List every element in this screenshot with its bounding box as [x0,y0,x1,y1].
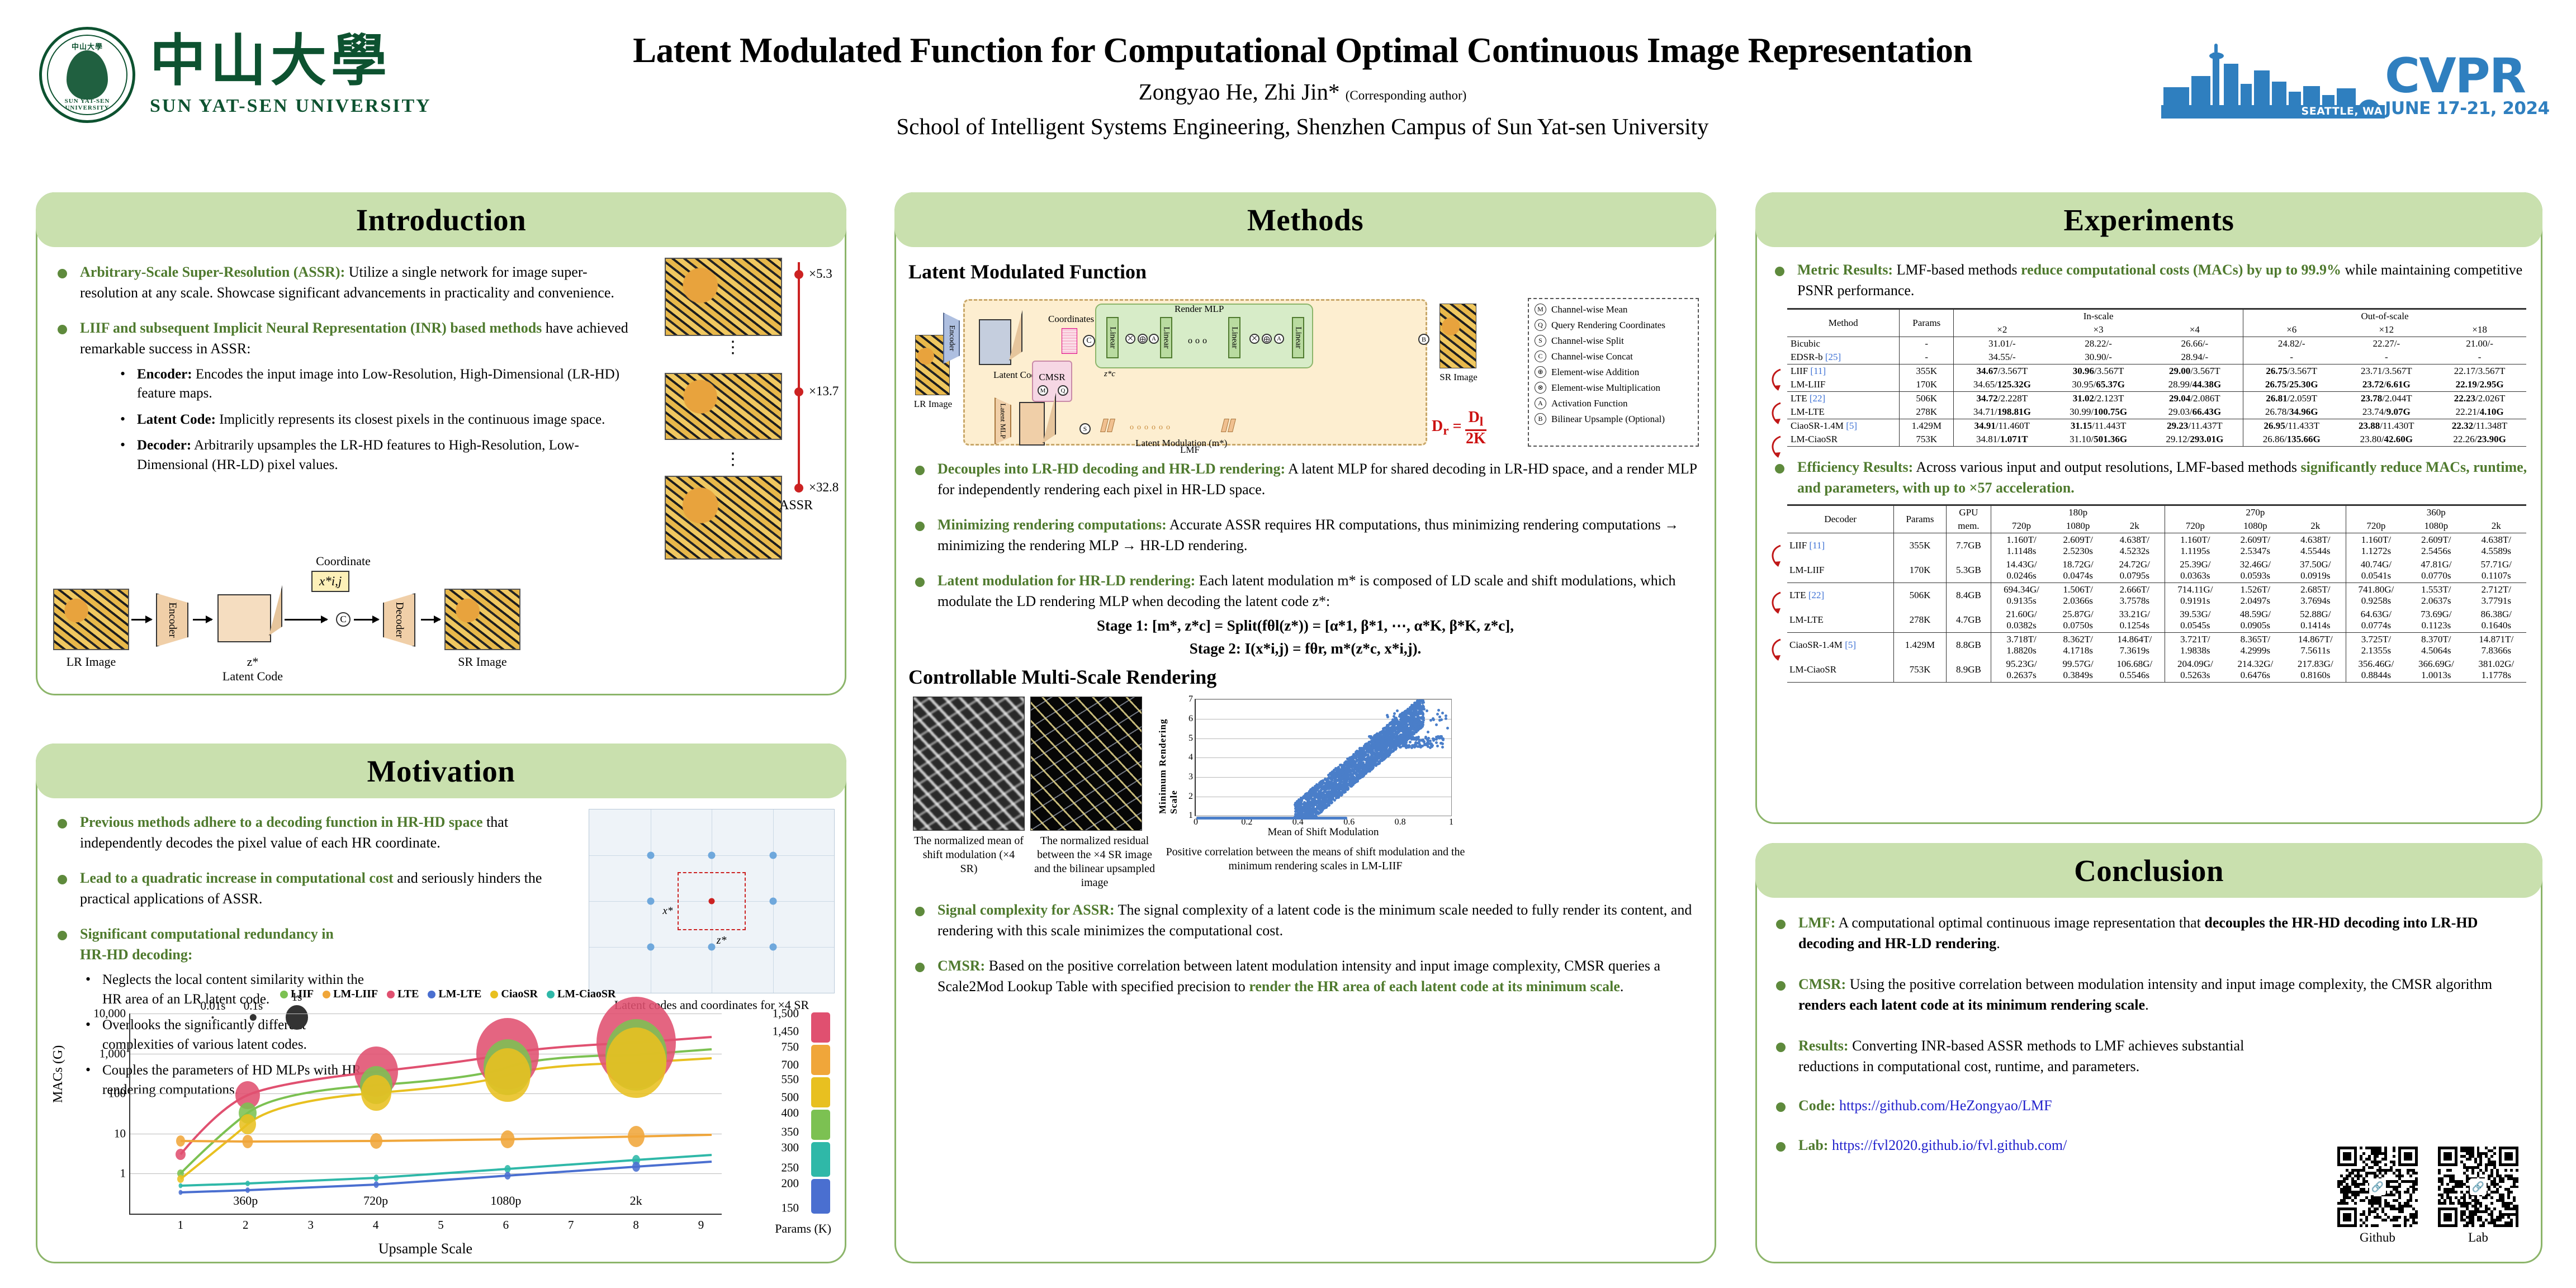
scatter-y-tick: 5 [1188,733,1196,744]
methods-section-1-title: Latent Modulated Function [908,260,1702,283]
motiv-bullet-2-lead: Lead to a quadratic increase in computat… [80,870,394,886]
colorbar-label: 1,500 [773,1007,799,1021]
arch-sr-label: SR Image [1436,372,1481,383]
hr-area-box [678,872,746,931]
scale-marker-3 [794,484,803,493]
pipeline-sr-image [444,589,520,650]
legend-label: CiaoSR [501,988,538,1001]
metric-results-table: MethodParamsIn-scaleOut-of-scale×2×3×4×6… [1787,308,2526,448]
sub-lead: Latent Code: [137,412,216,427]
legend-row: MChannel-wise Mean [1535,304,1692,315]
bubble-point [176,1149,186,1160]
legend-row: AActivation Function [1535,397,1692,409]
chart-y-axis-label: MACs (G) [51,1045,66,1103]
colorbar-label: 700 [782,1058,799,1072]
pipeline-sr-label: SR Image [444,655,520,669]
bubble-point [632,1162,640,1172]
intro-bullet-2: LIIF and subsequent Implicit Neural Repr… [51,318,643,475]
scatter-x-tick: 0.8 [1395,816,1406,827]
cmsr-figures: The normalized mean of shift modulation … [913,697,1702,890]
arch-latent-modulation-label: Latent Modulation (m*) [1135,438,1227,449]
introduction-bullets: Arbitrary-Scale Super-Resolution (ASSR):… [51,262,643,475]
scale-marker-2 [794,387,803,396]
arch-linear-label: Linear [1294,326,1303,348]
grid-x-label: x* [662,905,673,917]
lab-link[interactable]: https://fvl2020.github.io/fvl.github.com… [1832,1137,2067,1153]
bubble-point [374,1181,379,1188]
legend-row: QQuery Rendering Coordinates [1535,319,1692,331]
colorbar-label: 550 [782,1073,799,1087]
scatter-plot-area: 7 6 5 4 3 2 1 0 0.2 0.4 0.6 0.8 1 [1195,699,1452,816]
colorbar-label: 400 [782,1106,799,1120]
concl-bullet-2-bold: renders each latent code at its minimum … [1798,997,2145,1013]
y-tick-label: 100 [108,1087,131,1101]
colorbar-label: 750 [782,1040,799,1054]
scatter-y-tick: 2 [1188,792,1196,802]
intro-bullet-1: Arbitrary-Scale Super-Resolution (ASSR):… [51,262,643,304]
assr-scale-figure: ⋮ ⋮ ×5.3 ×13.7 ×32.8 ASSR [665,258,832,560]
x-tick-label: 9 [698,1214,704,1232]
pipeline-encoder-icon: Encoder [156,593,188,647]
methods-bullet-5: CMSR: Based on the positive correlation … [908,956,1702,997]
sub-lead: Encoder: [137,367,192,382]
bubble-point [501,1130,515,1148]
split-icon: S [1535,335,1546,347]
x-tick-label: 4 [373,1214,379,1232]
scatter-caption: Positive correlation between the means o… [1164,845,1466,873]
legend-text: Channel-wise Mean [1551,304,1627,315]
colorbar-label: 1,450 [773,1025,799,1039]
colorbar-label: 350 [782,1125,799,1139]
legend-text: Bilinear Upsample (Optional) [1551,414,1665,425]
query-icon: Q [1058,385,1068,396]
university-seal-icon: 中山大學 SUN YAT-SEN UNIVERSITY [39,27,135,123]
x-tick-label: 5 [438,1214,444,1232]
colorbar-label: 500 [782,1091,799,1105]
motiv-bullet-2: Lead to a quadratic increase in computat… [51,868,554,910]
colorbar-label: 200 [782,1177,799,1191]
grid-z-label: z* [717,934,727,947]
concl-bullet-1-mid: A computational optimal continuous image… [1835,915,2204,931]
pipeline-arrow-1 [131,619,151,621]
legend-label: LM-LTE [438,988,481,1001]
bubble-point [243,1135,253,1148]
chart-legend: LIIF LM-LIIF LTE LM-LTE CiaoSR LM-CiaoSR [280,988,615,1001]
pipeline-coordinate-label: Coordinate [290,554,396,569]
scatter-y-tick: 6 [1188,714,1196,724]
list-item: Decoder: Arbitrarily upsamples the LR-HD… [115,436,643,475]
arch-cmsr-label: CMSR [1039,372,1065,383]
methods-bullet-5-green: render the HR area of each latent code a… [1249,978,1620,995]
panel-conclusion: Conclusion LMF: A computational optimal … [1755,843,2542,1263]
qr-codes: 🔗 Github 🔗 Lab [2337,1147,2518,1245]
panel-introduction: Introduction Arbitrary-Scale Super-Resol… [36,192,846,695]
arch-bilinear-icon: B [1418,334,1429,345]
legend-item: LTE [387,988,419,1001]
corresponding-author-note: (Corresponding author) [1346,88,1467,102]
x-tick-label: 3 [307,1214,314,1232]
size-key-label: 0.1s [244,999,263,1013]
scatter-x-tick: 1 [1449,816,1453,827]
pipeline-arrow-5 [421,619,440,621]
methods-bullet-3-lead: Latent modulation for HR-LD rendering: [937,572,1195,589]
methods-bullet-1-lead: Decouples into LR-HD decoding and HR-LD … [937,461,1285,477]
legend-row: CChannel-wise Concat [1535,351,1692,362]
arch-multiply-icon-1: ⨉ [1125,334,1135,344]
seattle-skyline-icon: SEATTLE, WA [2161,40,2385,119]
legend-row: ⊕Element-wise Addition [1535,366,1692,378]
arch-linear-label: Linear [1108,326,1117,348]
bilinear-icon: B [1535,413,1546,425]
exp-bullet-1: Metric Results: LMF-based methods reduce… [1768,260,2530,301]
lmf-architecture-diagram: LR Image Encoder LMF Latent Code (z*) Co… [912,291,1700,453]
scatter-y-tick: 3 [1188,772,1196,782]
dr-denominator: 2K [1466,431,1486,447]
sr-crop-image-1 [665,258,782,336]
size-key-label: 1s [286,990,308,1004]
y-tick-label: 10,000 [93,1007,130,1021]
arch-linear-label: Linear [1230,326,1239,348]
methods-title: Methods [1247,202,1363,238]
query-icon: Q [1535,319,1546,331]
pipeline-coordinate-box: x*i,j [311,571,349,592]
pipeline-lr-image [53,589,129,650]
legend-item: CiaoSR [490,988,538,1001]
methods-bullet-4: Signal complexity for ASSR: The signal c… [908,900,1702,941]
page-title: Latent Modulated Function for Computatio… [492,31,2113,70]
cvpr-logo: SEATTLE, WA CVPR JUNE 17-21, 2024 [2161,35,2553,119]
title-block: Latent Modulated Function for Computatio… [492,31,2113,140]
arch-sr-image [1439,304,1476,368]
x-tick-label: 6 [503,1214,509,1232]
motiv-bullet-1: Previous methods adhere to a decoding fu… [51,812,554,854]
sub-rest: Arbitrarily upsamples the LR-HD features… [137,438,579,472]
scale-label-1: ×5.3 [809,267,832,281]
shift-modulation-image [913,697,1025,831]
introduction-title: Introduction [356,202,527,238]
intro-bullet-1-lead: Arbitrary-Scale Super-Resolution (ASSR): [80,264,345,280]
scale-label-2: ×13.7 [809,384,839,399]
panel-motivation: Motivation Previous methods adhere to a … [36,744,846,1263]
methods-bullet-4-lead: Signal complexity for ASSR: [937,902,1115,918]
experiments-title: Experiments [2064,202,2234,238]
legend-text: Channel-wise Concat [1551,351,1633,362]
conversion-arrow-4 [1768,543,1787,569]
bubble-point [485,1048,531,1102]
lab-label: Lab: [1798,1137,1828,1153]
motiv-bullet-1-lead: Previous methods adhere to a decoding fu… [80,814,483,830]
authors: Zongyao He, Zhi Jin* (Corresponding auth… [492,78,2113,105]
x-tick-label: 1 [178,1214,184,1232]
intro-pipeline-diagram: LR Image Encoder z* Latent Code Coordina… [50,557,609,686]
legend-row: ⊗Element-wise Multiplication [1535,382,1692,394]
conclusion-header: Conclusion [1755,843,2542,898]
pipeline-lr-label: LR Image [53,655,129,669]
legend-row: BBilinear Upsample (Optional) [1535,413,1692,425]
arch-activation-icon-2: A [1274,334,1284,344]
arch-modulation-bars-2 [1223,419,1234,432]
colorbar-label: 300 [782,1141,799,1155]
equation-stage-2: Stage 2: I(x*i,j) = fθr, m*(z*c, x*i,j). [908,640,1702,657]
scale-label-3: ×32.8 [809,480,839,495]
x-tick-label: 8 [633,1214,639,1232]
methods-header: Methods [894,192,1716,247]
legend-text: Element-wise Addition [1551,367,1639,378]
latent-grid-figure: z* x* [589,809,835,993]
pipeline-latent-label: z* [211,655,295,669]
y-tick-label: 1 [120,1167,131,1181]
legend-label: LM-CiaoSR [557,988,615,1001]
arch-legend: MChannel-wise Mean QQuery Rendering Coor… [1528,298,1699,447]
methods-bullet-5-lead: CMSR: [937,958,985,974]
experiments-bullets-2: Efficiency Results: Across various input… [1768,457,2530,499]
scale-axis-line [798,262,800,489]
arch-latent-cube [979,319,1011,365]
arch-latent-mlp-label: Latent MLP [998,403,1007,438]
bubble-point [606,1027,666,1098]
sub-lead: Decoder: [137,438,191,453]
residual-image [1030,697,1142,831]
arch-latent-out-cube [1019,402,1045,446]
arch-zc-label: z*c [1104,370,1115,379]
sub-rest: Encodes the input image into Low-Resolut… [137,367,619,401]
arch-render-mlp-label: Render MLP [1175,304,1224,315]
github-qr-code[interactable]: 🔗 [2337,1147,2418,1227]
introduction-header: Introduction [36,192,846,247]
size-key-label: 0.01s [201,999,226,1013]
bubble-point [374,1175,379,1181]
arch-latent-mlp-icon: Latent MLP [995,397,1011,444]
bubble-point [628,1126,645,1147]
code-link[interactable]: https://github.com/HeZongyao/LMF [1839,1097,2052,1114]
authors-names: Zongyao He, Zhi Jin* [1139,79,1340,105]
intro-bullet-2-lead: LIIF and subsequent Implicit Neural Repr… [80,320,542,336]
legend-row: SChannel-wise Split [1535,335,1692,347]
panel-experiments: Experiments Metric Results: LMF-based me… [1755,192,2542,824]
arch-activation-icon-1: A [1149,334,1159,344]
sr-crop-image-3 [665,476,782,560]
concl-bullet-2: CMSR: Using the positive correlation bet… [1769,974,2528,1016]
concl-bullet-2-rest: . [2145,997,2149,1013]
methods-section-2-title: Controllable Multi-Scale Rendering [908,665,1702,689]
arch-add-icon-1: ⨁ [1138,334,1148,344]
conversion-arrow-2 [1768,401,1787,427]
chart-x-axis-label: Upsample Scale [129,1240,722,1257]
list-item: Encoder: Encodes the input image into Lo… [115,365,643,404]
legend-item: LM-LIIF [323,988,378,1001]
experiments-header: Experiments [1755,192,2542,247]
panel-methods: Methods Latent Modulated Function LR Ima… [894,192,1716,1263]
legend-label: LM-LIIF [333,988,378,1001]
intro-sub-list: Encoder: Encodes the input image into Lo… [115,365,643,475]
concl-bullet-1-lead: LMF: [1798,915,1835,931]
conclusion-bullets: LMF: A computational optimal continuous … [1769,913,2528,1156]
chart-plot-area: 10,000 1,000 100 10 1 1 2 3 4 5 6 7 8 9 … [129,1014,722,1215]
arch-encoder-icon: Encoder [943,312,960,364]
efficiency-results-table: DecoderParamsGPU180p270p360pmem.720p1080… [1787,504,2526,684]
legend-text: Channel-wise Split [1551,335,1624,347]
conversion-arrow-6 [1768,637,1787,663]
bubble-point [179,1190,183,1195]
methods-bullets-2: Signal complexity for ASSR: The signal c… [908,900,1702,997]
multiplication-icon: ⊗ [1535,382,1546,394]
conversion-arrow-5 [1768,590,1787,616]
scatter-y-tick: 7 [1188,694,1196,704]
affiliation: School of Intelligent Systems Engineerin… [492,113,2113,140]
seattle-label: SEATTLE, WA [2302,105,2383,117]
bubble-point [370,1133,382,1149]
bubble-point [245,1187,250,1193]
exp-bullet-2-mid: Across various input and output resoluti… [1913,459,2300,475]
conclusion-title: Conclusion [2074,853,2224,888]
motiv-bullet-3-lead: Significant computational redundancy in … [80,926,334,963]
cvpr-wordmark: CVPR [2385,52,2550,100]
arch-linear-1: Linear [1106,317,1119,358]
concl-bullet-3: Results: Converting INR-based ASSR metho… [1769,1036,2250,1077]
lab-qr-code[interactable]: 🔗 [2438,1147,2518,1227]
scatter-y-axis-label: Minimum Rendering Scale [1161,697,1176,814]
addition-icon: ⊕ [1535,366,1546,378]
arch-linear-4: Linear [1292,317,1304,358]
lab-qr-caption: Lab [2438,1230,2518,1245]
concat-icon: C [336,612,351,627]
y-tick-label: 1,000 [100,1046,130,1060]
arch-modulation-dots: oooooo [1130,423,1173,432]
pipeline-latentcode-label: Latent Code [205,669,300,684]
assr-label: ASSR [779,498,813,513]
dr-symbol: Dr = [1432,418,1462,439]
pipeline-decoder-label: Decoder [393,602,405,638]
shift-modulation-caption: The normalized mean of shift modulation … [913,834,1025,876]
exp-bullet-1-lead: Metric Results: [1797,262,1893,278]
legend-text: Query Rendering Coordinates [1551,320,1665,331]
equation-stage-1: Stage 1: [m*, z*c] = Split(fθl(z*)) = [α… [908,617,1702,634]
experiments-bullets: Metric Results: LMF-based methods reduce… [1768,260,2530,301]
arch-linear-3: Linear [1228,317,1240,358]
exp-bullet-1-green: reduce computational costs (MACs) by up … [2021,262,2341,278]
arch-multiply-icon-2: ⨉ [1249,334,1259,344]
pipeline-arrow-4 [354,619,378,621]
legend-item: LM-LTE [428,988,481,1001]
mean-icon: M [1535,304,1546,315]
conversion-arrow-1 [1768,367,1787,393]
concat-icon: C [1535,351,1546,362]
chart-colorbar: 1,500 1,450 750 700 550 500 400 350 300 … [811,1012,830,1215]
seal-bottom-text: SUN YAT-SEN UNIVERSITY [42,98,132,111]
university-name-en: SUN YAT-SEN UNIVERSITY [150,96,432,117]
activation-icon: A [1535,397,1546,409]
github-qr-caption: Github [2337,1230,2418,1245]
cvpr-date: JUNE 17-21, 2024 [2385,100,2550,117]
metric-results-table-wrap: MethodParamsIn-scaleOut-of-scale×2×3×4×6… [1787,308,2526,448]
arch-coordinate-grid [1062,328,1077,354]
methods-bullet-3: Latent modulation for HR-LD rendering: E… [908,571,1702,612]
methods-bullets: Decouples into LR-HD decoding and HR-LD … [908,459,1702,612]
concl-code-row: Code: https://github.com/HeZongyao/LMF [1769,1096,2528,1116]
pipeline-encoder-label: Encoder [166,602,178,637]
bubble-point [239,1114,256,1134]
legend-label: LTE [397,988,419,1001]
conversion-arrow-3 [1768,434,1787,460]
ellipsis-2: ⋮ [724,454,741,465]
list-item: Latent Code: Implicitly represents its c… [115,410,643,430]
pipeline-arrow-3 [285,619,327,621]
concl-bullet-1: LMF: A computational optimal continuous … [1769,913,2528,954]
colorbar-label: 250 [782,1161,799,1175]
concl-bullet-3-lead: Results: [1798,1038,1849,1054]
bubble-point [176,1135,185,1147]
arch-encoder-label: Encoder [947,325,956,352]
colorbar-title: Params (K) [775,1221,831,1236]
x-tick-label: 7 [568,1214,574,1232]
efficiency-results-table-wrap: DecoderParamsGPU180p270p360pmem.720p1080… [1787,504,2526,684]
exp-bullet-2: Efficiency Results: Across various input… [1768,457,2530,499]
bubble-point [245,1181,250,1186]
methods-bullet-5-rest3: . [1620,978,1624,995]
x-tick-label: 2 [243,1214,249,1232]
arch-add-icon-2: ⨁ [1262,334,1272,344]
y-tick-label: 10 [114,1126,130,1140]
arch-modulation-bars [1102,419,1114,432]
code-label: Code: [1798,1097,1835,1114]
pipeline-arrow-2 [193,619,212,621]
scale-marker-1 [794,270,803,279]
residual-caption: The normalized residual between the ×4 S… [1030,834,1159,890]
arch-linear-2: Linear [1160,317,1172,358]
dr-numerator: Dl [1465,410,1487,431]
macs-vs-scale-chart: LIIF LM-LIIF LTE LM-LTE CiaoSR LM-CiaoSR… [45,988,839,1256]
bubble-point [361,1075,391,1111]
methods-bullet-2-lead: Minimizing rendering computations: [937,517,1167,533]
concl-bullet-3-rest: Converting INR-based ASSR methods to LMF… [1798,1038,2244,1074]
pipeline-decoder-icon: Decoder [383,593,415,647]
bubble-point [179,1183,183,1188]
correlation-scatter-chart: Minimum Rendering Scale 7 6 5 4 3 2 1 0 … [1164,697,1466,831]
legend-text: Element-wise Multiplication [1551,382,1660,394]
sub-rest: Implicitly represents its closest pixels… [216,412,605,427]
pipeline-latent-cube [217,594,271,642]
sr-crop-image-2 [665,373,782,440]
methods-bullet-1: Decouples into LR-HD decoding and HR-LD … [908,459,1702,500]
methods-bullet-2: Minimizing rendering computations: Accur… [908,515,1702,556]
mean-icon: M [1038,385,1048,396]
colorbar-label: 150 [782,1201,799,1215]
legend-text: Activation Function [1551,398,1627,409]
ellipsis-1: ⋮ [724,343,741,353]
arch-linear-label: Linear [1162,326,1171,348]
motivation-header: Motivation [36,744,846,798]
arch-lr-label: LR Image [912,399,954,410]
arch-dr-equation: Dr = Dl 2K [1432,410,1486,447]
legend-item: LM-CiaoSR [547,988,615,1001]
arch-concat-icon: C [1083,335,1095,347]
bubble-point [177,1175,184,1183]
exp-bullet-1-mid: LMF-based methods [1893,262,2021,278]
scatter-y-tick: 4 [1188,752,1196,763]
arch-split-icon: S [1079,423,1091,434]
concl-bullet-2-lead: CMSR: [1798,976,1846,992]
arch-cmsr-box: CMSR M Q [1032,361,1072,402]
concl-bullet-1-rest: . [1996,935,2000,951]
exp-bullet-2-lead: Efficiency Results: [1797,459,1913,475]
university-name-cn: 中山大學 [150,33,432,89]
bubble-point [505,1172,511,1180]
motivation-title: Motivation [367,754,515,789]
scatter-x-axis-label: Mean of Shift Modulation [1195,826,1452,839]
university-logo: 中山大學 SUN YAT-SEN UNIVERSITY 中山大學 SUN YAT… [39,27,432,123]
poster-header: 中山大學 SUN YAT-SEN UNIVERSITY 中山大學 SUN YAT… [0,0,2576,179]
seal-inner-shape [67,50,108,100]
